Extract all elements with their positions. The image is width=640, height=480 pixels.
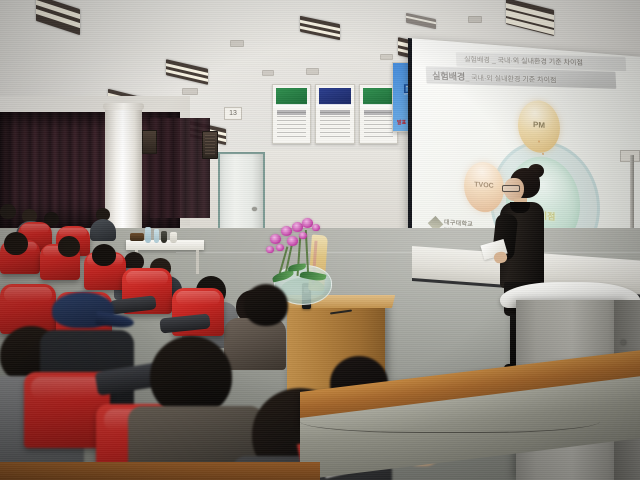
podium-control-knob[interactable] (621, 340, 626, 345)
ceiling-vent (306, 68, 319, 75)
orchid-bloom (270, 234, 281, 244)
lecture-hall-photo: 13 대구 대 발표 2009. 11. 실험배경 _ 국내·외 실내 (0, 0, 640, 480)
slide-title-ghost-text: 실험배경 _ 국내·외 실내환경 기준 차이점 (464, 55, 583, 68)
drink-cup[interactable] (170, 232, 177, 243)
slide-dot (538, 140, 540, 142)
wall-box (142, 130, 157, 154)
ceiling-vent (468, 16, 482, 23)
slide-dot (542, 153, 544, 155)
support-pillar (105, 105, 142, 240)
stage-curtain-right (150, 118, 210, 218)
ceiling-vent (262, 70, 274, 76)
orchid-bloom (266, 246, 274, 253)
wall-speaker-icon (202, 131, 218, 159)
audience-head (58, 236, 80, 257)
orchid-bloom (299, 232, 307, 239)
slide-title-sub: _ 국내·외 실내환경 기준 차이점 (465, 75, 557, 85)
orchid-bloom (312, 224, 320, 231)
water-bottle[interactable] (145, 227, 151, 243)
orchid-bloom (281, 226, 292, 236)
audience-head (4, 232, 28, 255)
banner-date-prefix: 발표 (397, 120, 406, 126)
slide-title-main: 실험배경 (432, 71, 466, 82)
ceiling-vent (230, 40, 244, 47)
floor-cable-foreground (300, 404, 600, 433)
ceiling-vent (380, 54, 393, 60)
stage-wood-step-lower (0, 462, 320, 480)
slide-bubble-pm-label: PM (518, 119, 560, 131)
glasses-icon (502, 185, 520, 192)
door-handle-icon[interactable] (252, 207, 257, 211)
floor-wall-joint (176, 252, 640, 253)
water-bottle[interactable] (154, 229, 159, 243)
table-leg (196, 250, 199, 274)
audience-head (0, 204, 16, 219)
pillar-cap (103, 103, 144, 110)
audience-body (224, 318, 286, 370)
audience-body (90, 219, 116, 241)
audience-head (92, 244, 116, 266)
orchid-bloom (276, 244, 284, 251)
wall-poster-group (272, 84, 398, 144)
audience-head-foreground (244, 284, 288, 326)
wall-poster (272, 84, 311, 144)
wall-poster (315, 84, 354, 144)
audience-head-foreground (150, 336, 232, 416)
snack-tray (130, 233, 144, 241)
ceiling-vent (182, 88, 198, 95)
drink-bottle[interactable] (161, 231, 167, 243)
orchid-bloom (287, 236, 298, 246)
room-number-plate: 13 (224, 107, 242, 120)
